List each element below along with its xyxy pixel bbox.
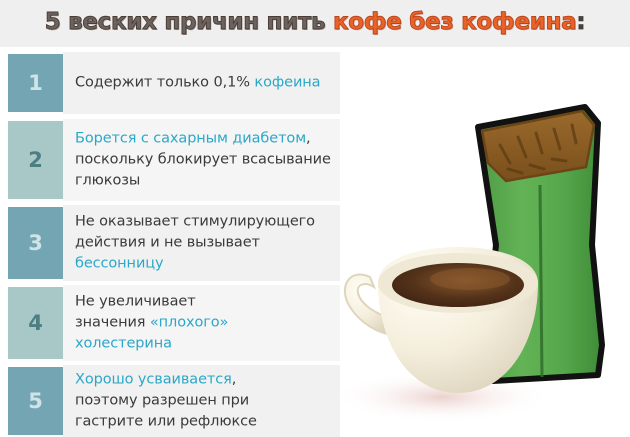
- reason-number-badge: 1: [8, 54, 63, 112]
- plain-phrase: поэтому разрешен при: [75, 393, 249, 409]
- reason-row: 2Борется с сахарным диабетом,поскольку б…: [0, 119, 340, 201]
- reason-text: Не оказывает стимулирующегодействия и не…: [75, 212, 334, 275]
- highlighted-phrase: «плохого»: [150, 315, 228, 331]
- highlighted-phrase: Хорошо усваивается: [75, 372, 232, 388]
- reason-text-line: поскольку блокирует всасывание: [75, 150, 334, 171]
- reason-row: 1Содержит только 0,1% кофеина: [0, 52, 340, 114]
- reason-text-line: Борется с сахарным диабетом,: [75, 129, 334, 150]
- reason-text: Не увеличиваетзначения «плохого»холестер…: [75, 292, 334, 355]
- reason-row: 3Не оказывает стимулирующегодействия и н…: [0, 205, 340, 281]
- plain-phrase: гастрите или рефлюксе: [75, 414, 257, 430]
- reason-number-badge: 4: [8, 287, 63, 359]
- reason-row: 4Не увеличиваетзначения «плохого»холесте…: [0, 285, 340, 361]
- reason-text-line: гастрите или рефлюксе: [75, 412, 334, 433]
- plain-phrase: Не оказывает стимулирующего: [75, 214, 315, 230]
- plain-phrase: действия и не вызывает: [75, 235, 260, 251]
- reasons-list: 1Содержит только 0,1% кофеина2Борется с …: [0, 47, 340, 437]
- reason-text-line: Хорошо усваивается,: [75, 370, 334, 391]
- reason-text: Содержит только 0,1% кофеина: [75, 73, 334, 94]
- plain-phrase: ,: [232, 372, 237, 388]
- reason-text-line: холестерина: [75, 334, 334, 355]
- plain-phrase: глюкозы: [75, 173, 140, 189]
- illustration: [330, 45, 630, 437]
- reason-text-line: поэтому разрешен при: [75, 391, 334, 412]
- title-part-primary: 5 веских причин пить: [45, 9, 333, 35]
- highlighted-phrase: бессонницу: [75, 256, 164, 272]
- title-colon: :: [576, 9, 585, 35]
- reason-text: Борется с сахарным диабетом,поскольку бл…: [75, 129, 334, 192]
- reason-text-line: глюкозы: [75, 171, 334, 192]
- highlighted-phrase: кофеина: [254, 75, 320, 91]
- reason-text-line: действия и не вызывает: [75, 233, 334, 254]
- reason-text-line: Содержит только 0,1% кофеина: [75, 73, 334, 94]
- highlighted-phrase: Борется с сахарным диабетом: [75, 131, 306, 147]
- reason-number-badge: 5: [8, 367, 63, 435]
- plain-phrase: значения: [75, 315, 150, 331]
- plain-phrase: Содержит только 0,1%: [75, 75, 254, 91]
- page-title: 5 веских причин пить кофе без кофеина:: [0, 7, 630, 37]
- reason-number-badge: 3: [8, 207, 63, 279]
- plain-phrase: поскольку блокирует всасывание: [75, 152, 331, 168]
- highlighted-phrase: холестерина: [75, 336, 172, 352]
- reason-text-line: Не оказывает стимулирующего: [75, 212, 334, 233]
- reason-number-badge: 2: [8, 121, 63, 199]
- reason-text-line: бессонницу: [75, 254, 334, 275]
- reason-row: 5Хорошо усваивается,поэтому разрешен при…: [0, 365, 340, 437]
- infographic-poster: 5 веских причин пить кофе без кофеина: 1…: [0, 0, 630, 437]
- plain-phrase: ,: [306, 131, 311, 147]
- reason-text-line: значения «плохого»: [75, 313, 334, 334]
- reason-text-line: Не увеличивает: [75, 292, 334, 313]
- reason-text: Хорошо усваивается,поэтому разрешен приг…: [75, 370, 334, 433]
- plain-phrase: Не увеличивает: [75, 294, 196, 310]
- title-band: 5 веских причин пить кофе без кофеина:: [0, 0, 630, 47]
- title-part-accent: кофе без кофеина: [333, 9, 576, 35]
